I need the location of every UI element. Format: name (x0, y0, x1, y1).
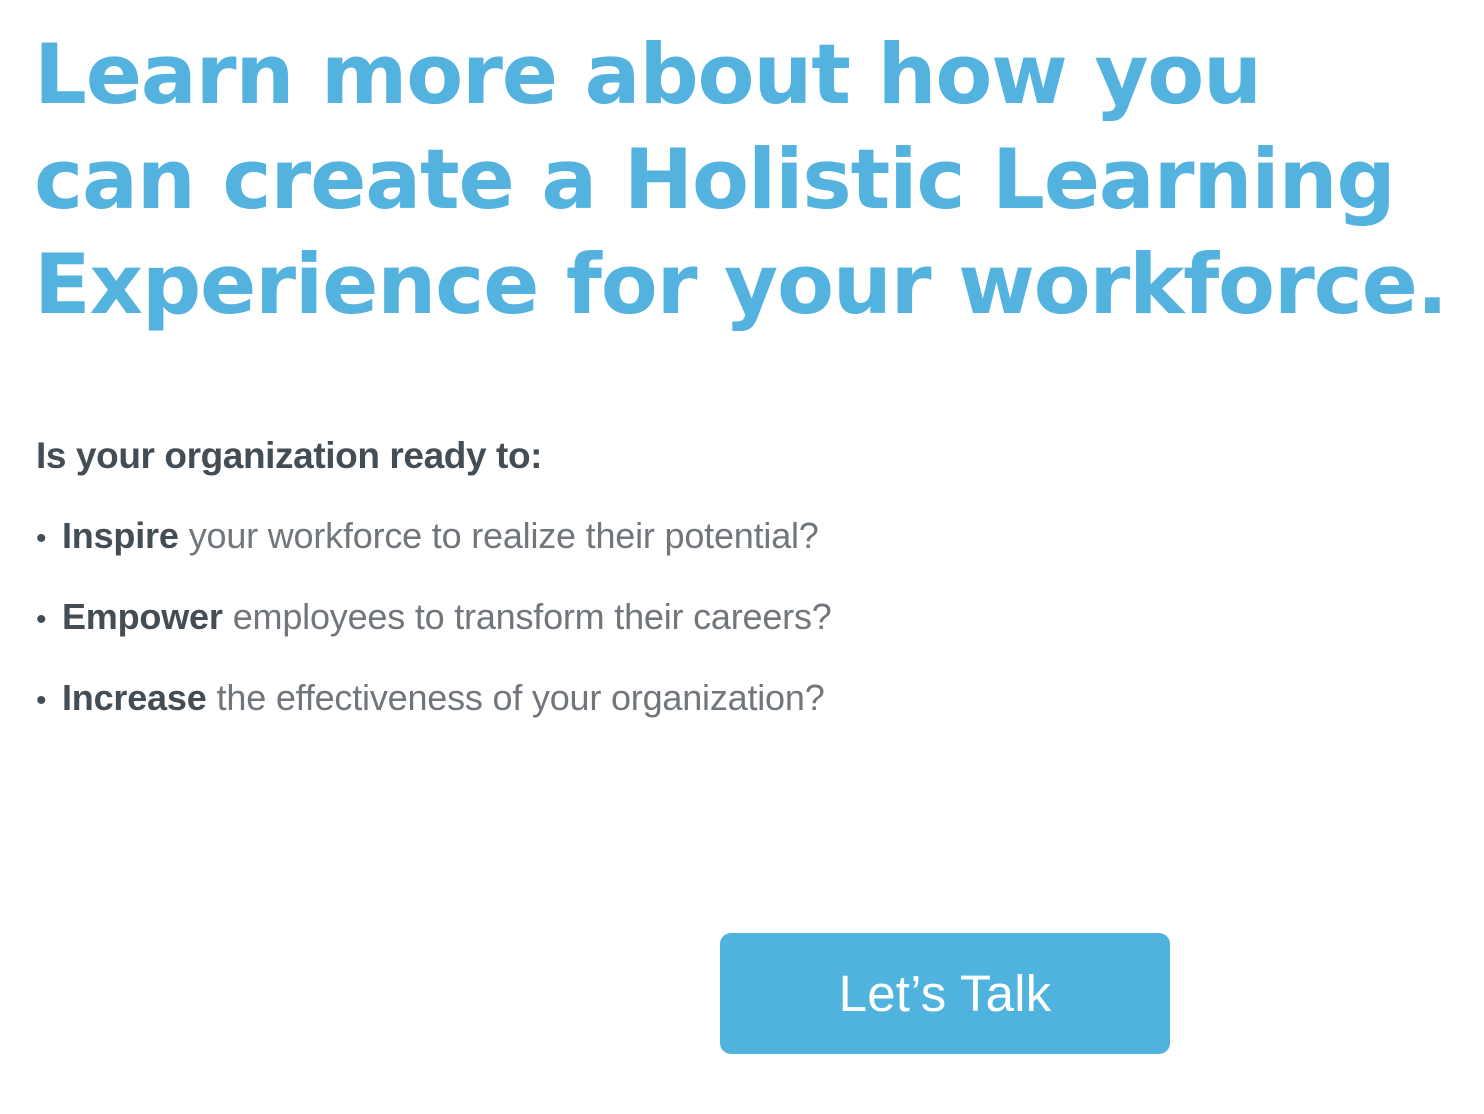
bullet-dot-icon: • (36, 517, 62, 561)
subheading: Is your organization ready to: (36, 434, 542, 478)
headline-line-3: Experience for your workforce. (34, 232, 1434, 337)
bullet-body-text: employees to transform their careers? (233, 595, 832, 639)
headline-line-2: can create a Holistic Learning (34, 127, 1434, 232)
list-item: • Empower employees to transform their c… (36, 595, 1236, 676)
page-title: Learn more about how you can create a Ho… (34, 22, 1434, 337)
list-item: • Increase the effectiveness of your org… (36, 676, 1236, 757)
bullet-body-text: the effectiveness of your organization? (217, 676, 825, 720)
bullet-lead-word: Increase (62, 676, 207, 720)
headline-line-1: Learn more about how you (34, 22, 1434, 127)
readiness-checklist: • Inspire your workforce to realize thei… (36, 514, 1236, 757)
bullet-dot-icon: • (36, 679, 62, 723)
slide-canvas: Learn more about how you can create a Ho… (0, 0, 1484, 1114)
bullet-lead-word: Empower (62, 595, 223, 639)
bullet-body-text: your workforce to realize their potentia… (189, 514, 819, 558)
bullet-lead-word: Inspire (62, 514, 179, 558)
bullet-dot-icon: • (36, 598, 62, 642)
lets-talk-button[interactable]: Let’s Talk (720, 933, 1170, 1054)
list-item: • Inspire your workforce to realize thei… (36, 514, 1236, 595)
